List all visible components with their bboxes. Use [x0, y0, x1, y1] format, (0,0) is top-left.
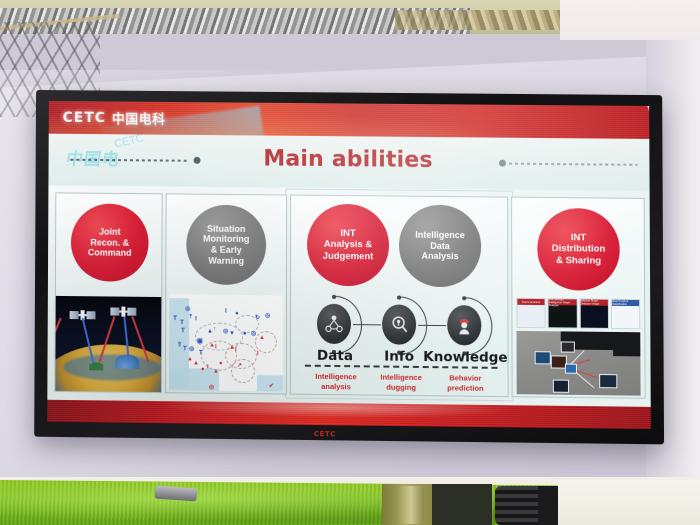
panel-situation-monitoring[interactable]: Situation Monitoring & Early Warning TT …: [165, 193, 287, 394]
satmap-node[interactable]: [553, 380, 569, 393]
map-ring-red-4: [231, 359, 255, 383]
space-illustration: [55, 296, 161, 392]
circle-situation-monitoring: Situation Monitoring & Early Warning: [186, 205, 266, 286]
thumbnail-caption: Airborne Target Detection Image: [580, 299, 607, 305]
panel-int-analysis[interactable]: INT Analysis & Judgement Intelligence Da…: [290, 195, 509, 398]
beam-red-1: [55, 318, 61, 361]
thumbnail-strip: Scene structure Fire Strength Intelligen…: [516, 298, 640, 329]
satmap-node[interactable]: [535, 351, 551, 364]
circle-joint-recon: Joint Recon. & Command: [71, 203, 149, 281]
dot-right: [499, 160, 506, 167]
flow-label-info: Info: [375, 348, 423, 365]
bezel-brand-logo: CETC: [314, 430, 336, 438]
vehicle-tire: [495, 486, 543, 525]
thumbnail-caption: Fire Strength Intelligence Target Analys…: [549, 299, 576, 305]
photo-scene: CETC 中国电科 中国电 CETC Main abilities Jo: [0, 0, 700, 525]
cetc-logo-latin: CETC: [63, 110, 106, 126]
thumbnail-caption: Mixed Feature Classification: [612, 300, 639, 306]
flow-connector-2: [418, 325, 446, 327]
thumbnail-caption: Scene structure: [517, 299, 544, 305]
floor-light-area: [558, 480, 700, 525]
satmap-node[interactable]: [561, 341, 575, 352]
satellite-icon-1: [70, 314, 96, 316]
vehicle-tire-rim: [538, 486, 558, 525]
flow-connector-1: [353, 324, 381, 326]
flow-label-data: Data: [307, 348, 363, 365]
flow-sublabel-intelligence-dugging: Intelligence dugging: [371, 372, 431, 393]
satmap-node[interactable]: [599, 374, 617, 388]
slide-canvas: CETC 中国电科 中国电 CETC Main abilities Jo: [47, 101, 651, 429]
flow-label-knowledge: Knowledge: [423, 349, 499, 366]
hall-right-wall: [560, 0, 700, 40]
dome-shield-2: [89, 362, 103, 370]
tactical-map: TT ⇡I T⇧ T◎ T▣ ▲↑ ◎▼ ●◎ I● ◎↻ ◎ ▲I ▲I ▲I: [169, 294, 283, 391]
satellite-network-map: [516, 331, 640, 396]
vehicle-dark-section: [432, 484, 492, 525]
molecule-icon: [317, 304, 351, 344]
display-screen: CETC 中国电科 中国电 CETC Main abilities Jo: [47, 101, 651, 429]
thumbnail-item[interactable]: Mixed Feature Classification: [611, 299, 641, 329]
thumbnail-item[interactable]: Scene structure: [516, 298, 545, 328]
panel-joint-recon[interactable]: Joint Recon. & Command: [54, 192, 162, 393]
person-brain-icon: [447, 305, 481, 345]
flow-sublabel-behavior-prediction: Behavior prediction: [433, 373, 497, 394]
circle-intelligence-data-analysis: Intelligence Data Analysis: [399, 205, 481, 288]
satmap-water-2: [613, 344, 640, 356]
vehicle-canister: [398, 486, 424, 524]
display-screen-bezel: CETC 中国电科 中国电 CETC Main abilities Jo: [34, 90, 664, 444]
circle-int-analysis: INT Analysis & Judgement: [307, 204, 389, 287]
thumbnail-item[interactable]: Airborne Target Detection Image: [579, 298, 609, 328]
satmap-node[interactable]: [565, 364, 577, 374]
flow-sublabel-intelligence-analysis: Intelligence analysis: [305, 372, 367, 393]
thumbnail-item[interactable]: Fire Strength Intelligence Target Analys…: [548, 298, 578, 328]
circle-int-distribution: INT Distribution & Sharing: [537, 208, 620, 291]
panel-int-distribution[interactable]: INT Distribution & Sharing Scene structu…: [511, 197, 646, 399]
dome-shield-1: [115, 355, 139, 369]
magnifier-icon: [382, 304, 416, 344]
footer-sheen: [47, 400, 651, 429]
satellite-icon-2: [110, 310, 136, 312]
